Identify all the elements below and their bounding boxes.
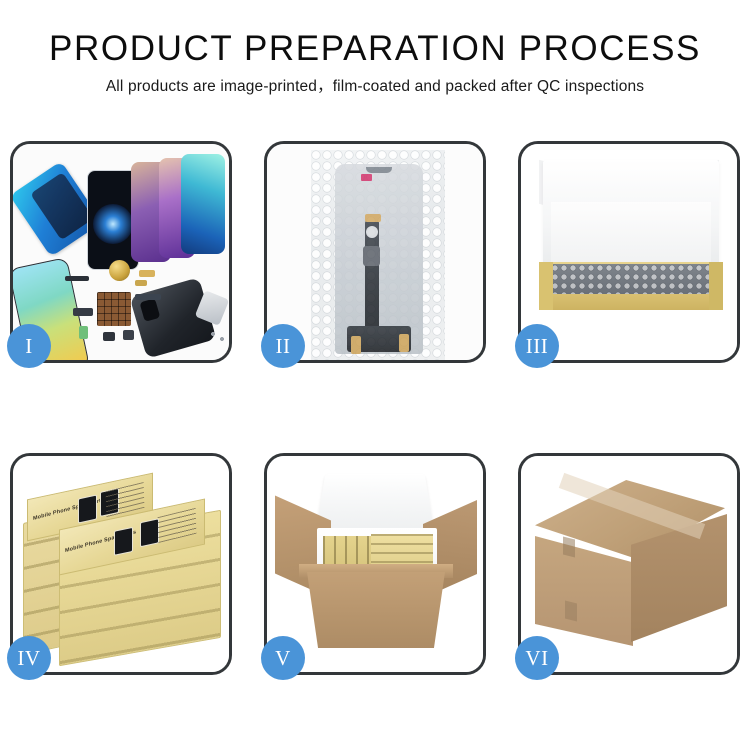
carton-front-panel [307, 572, 445, 648]
flex-cable-part [65, 276, 89, 281]
page-subtitle: All products are image-printed，film-coat… [0, 76, 750, 98]
process-steps-grid: I II [10, 141, 740, 686]
step-badge-3: III [515, 324, 559, 368]
box-screen-graphic [140, 518, 159, 547]
step-panel-6: VI [518, 453, 740, 675]
step-panel-5: V [264, 453, 486, 675]
box-screen-graphic [78, 495, 97, 524]
orange-tape [399, 334, 409, 352]
bubble-wrap-bag-image [311, 150, 445, 360]
small-component-part [135, 280, 147, 286]
page-title: PRODUCT PREPARATION PROCESS [0, 28, 750, 70]
red-sticker [361, 174, 372, 181]
box-lip-left [539, 262, 553, 310]
lcd-screen-image [335, 164, 423, 354]
retail-box-stack-image: Mobile Phone Spare Parts Mobile Phone Sp… [19, 472, 225, 660]
step-image-4: Mobile Phone Spare Parts Mobile Phone Sp… [13, 456, 229, 672]
carton-marking [563, 537, 575, 558]
box-screen-graphic [114, 527, 133, 556]
header: PRODUCT PREPARATION PROCESS All products… [0, 28, 750, 98]
orange-tape [351, 336, 361, 354]
step-panel-1: I [10, 141, 232, 363]
white-foam-lid-image [543, 160, 719, 270]
screws-part [209, 330, 227, 344]
small-component-part [139, 270, 155, 277]
bubble-wrapped-contents [551, 264, 711, 294]
teal-phone-image [181, 154, 225, 254]
orange-tape [365, 214, 381, 222]
step-badge-4: IV [7, 636, 51, 680]
gold-coil-part [109, 260, 130, 281]
step-image-5 [267, 456, 483, 672]
step-badge-6: VI [515, 636, 559, 680]
step-image-3 [521, 144, 737, 360]
step-panel-3: III [518, 141, 740, 363]
camera-module [366, 226, 378, 238]
box-lip-right [709, 262, 723, 310]
step-panel-4: Mobile Phone Spare Parts Mobile Phone Sp… [10, 453, 232, 675]
step-badge-1: I [7, 324, 51, 368]
flex-cable-part [135, 294, 161, 300]
small-component-part [123, 330, 134, 340]
small-component-part [79, 326, 88, 339]
step-panel-2: II [264, 141, 486, 363]
foam-lid-open [316, 474, 434, 532]
flex-cable-part [73, 308, 93, 316]
yellow-inner-box-image [539, 262, 723, 310]
step-image-2 [267, 144, 483, 360]
step-image-1 [13, 144, 229, 360]
screen-notch [366, 167, 392, 173]
step-badge-5: V [261, 636, 305, 680]
small-component-part [103, 332, 115, 341]
driver-chip [363, 246, 380, 266]
product-preparation-process-page: PRODUCT PREPARATION PROCESS All products… [0, 0, 750, 750]
chip-grid-part [97, 292, 131, 326]
step-image-6 [521, 456, 737, 672]
carton-marking [565, 601, 577, 622]
step-badge-2: II [261, 324, 305, 368]
box-spec-text-lines [158, 508, 197, 543]
